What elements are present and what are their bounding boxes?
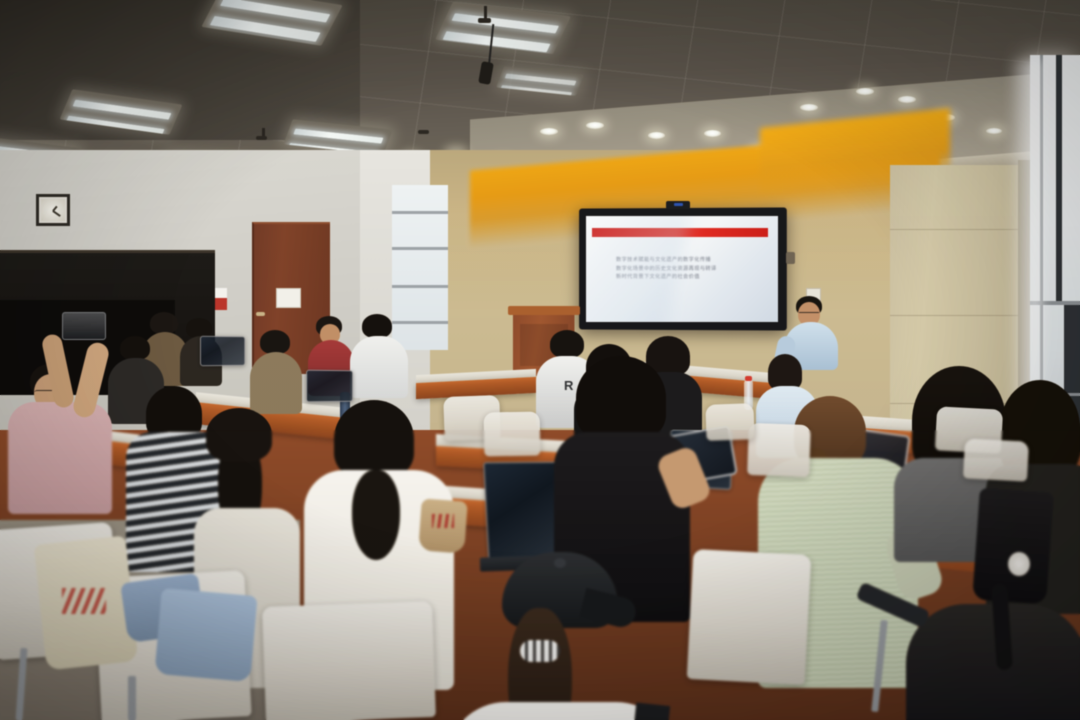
ceiling-sprinkler [418, 130, 429, 134]
cap-button [554, 558, 566, 568]
ceiling-downlight [648, 132, 665, 139]
attendee-hair [768, 354, 802, 390]
wall-speaker-icon [786, 252, 795, 264]
attendee-top [8, 402, 112, 514]
door-handle[interactable] [256, 312, 265, 316]
window-back-wall [392, 185, 448, 350]
ceiling-downlight [898, 96, 916, 103]
handbag-hanging [972, 488, 1054, 605]
tote-bag-logo [62, 588, 106, 614]
camera-lens-icon [674, 203, 683, 206]
ceiling-sprinkler [478, 18, 491, 23]
attendee-hair [550, 330, 584, 358]
attendee-hair [334, 400, 414, 478]
chair[interactable] [705, 403, 754, 441]
tote-bag-logo [432, 514, 454, 528]
screen-glare [586, 216, 692, 322]
presenter-glasses-icon [799, 312, 819, 317]
wall-clock [36, 194, 70, 226]
denim-jacket [154, 588, 257, 682]
attendee-ponytail [352, 470, 400, 560]
chair[interactable] [484, 412, 541, 457]
shirt-letter-r: R [564, 378, 576, 394]
ceiling-downlight [856, 88, 874, 95]
attendee-top [250, 352, 302, 414]
slide-screen: 数字技术赋能与文化遗产的数字化传播 数字化场景中的历史文化资源再现与转译 新时代… [586, 216, 778, 322]
attendee-hair [260, 330, 290, 354]
attendee-hair [362, 314, 392, 338]
chair-leg [128, 676, 136, 720]
ceiling-downlight [586, 122, 604, 129]
laptop[interactable] [306, 370, 353, 403]
chair[interactable] [687, 549, 812, 685]
chair[interactable] [963, 438, 1029, 481]
chair[interactable] [262, 601, 436, 720]
chair[interactable] [747, 423, 811, 477]
attendee-top [350, 336, 408, 398]
attendee-hair [206, 408, 272, 462]
lecture-hall-photo: 数字技术赋能与文化遗产的数字化传播 数字化场景中的历史文化资源再现与转译 新时代… [0, 0, 1080, 720]
attendee-hair [120, 336, 150, 360]
phone-taking-photo[interactable] [62, 312, 106, 340]
ceiling-sprinkler [256, 136, 267, 140]
ceiling-downlight [704, 130, 721, 137]
bag-charm-icon [1008, 552, 1030, 576]
ceiling-downlight [540, 128, 558, 135]
attendee-hair [576, 356, 666, 440]
ceiling-downlight [986, 128, 1002, 134]
door-sign [276, 288, 301, 308]
beaded-hair-tie [520, 640, 560, 662]
laptop[interactable] [200, 336, 245, 366]
podium-top [508, 306, 580, 315]
ceiling-downlight [800, 104, 818, 111]
bottle-cap [745, 376, 752, 381]
attendee-hair [150, 312, 178, 334]
